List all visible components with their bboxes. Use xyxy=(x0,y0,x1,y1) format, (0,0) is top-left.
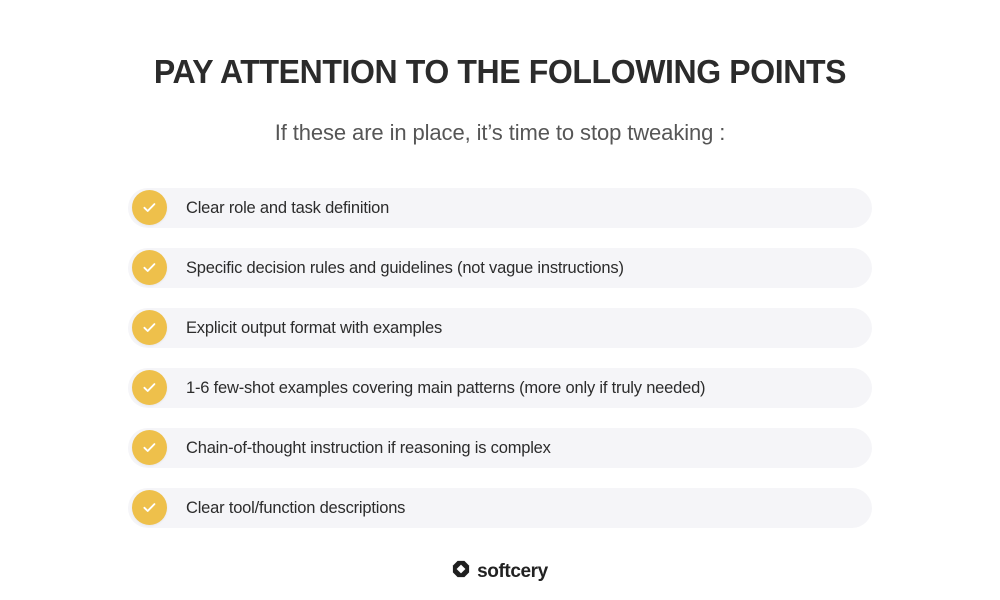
list-item-label: Clear tool/function descriptions xyxy=(186,488,405,528)
footer-brand: softcery xyxy=(0,560,1000,583)
page-title: PAY ATTENTION TO THE FOLLOWING POINTS xyxy=(15,52,985,92)
check-circle-icon xyxy=(132,370,167,405)
list-item: Chain-of-thought instruction if reasonin… xyxy=(128,428,872,468)
list-item-label: Specific decision rules and guidelines (… xyxy=(186,248,624,288)
list-item: Specific decision rules and guidelines (… xyxy=(128,248,872,288)
softcery-diamond-logo-icon xyxy=(452,560,470,583)
list-item-label: 1-6 few-shot examples covering main patt… xyxy=(186,368,705,408)
brand-wordmark: softcery xyxy=(477,562,548,581)
page-subtitle: If these are in place, it’s time to stop… xyxy=(0,118,1000,148)
check-circle-icon xyxy=(132,430,167,465)
slide-canvas: PAY ATTENTION TO THE FOLLOWING POINTS If… xyxy=(0,0,1000,600)
list-item: Clear role and task definition xyxy=(128,188,872,228)
list-item-label: Chain-of-thought instruction if reasonin… xyxy=(186,428,551,468)
list-item: 1-6 few-shot examples covering main patt… xyxy=(128,368,872,408)
check-circle-icon xyxy=(132,190,167,225)
list-item: Clear tool/function descriptions xyxy=(128,488,872,528)
checklist: Clear role and task definition Specific … xyxy=(128,188,872,528)
list-item: Explicit output format with examples xyxy=(128,308,872,348)
check-circle-icon xyxy=(132,490,167,525)
list-item-label: Explicit output format with examples xyxy=(186,308,442,348)
heading-block: PAY ATTENTION TO THE FOLLOWING POINTS If… xyxy=(0,0,1000,148)
check-circle-icon xyxy=(132,310,167,345)
check-circle-icon xyxy=(132,250,167,285)
list-item-label: Clear role and task definition xyxy=(186,188,389,228)
